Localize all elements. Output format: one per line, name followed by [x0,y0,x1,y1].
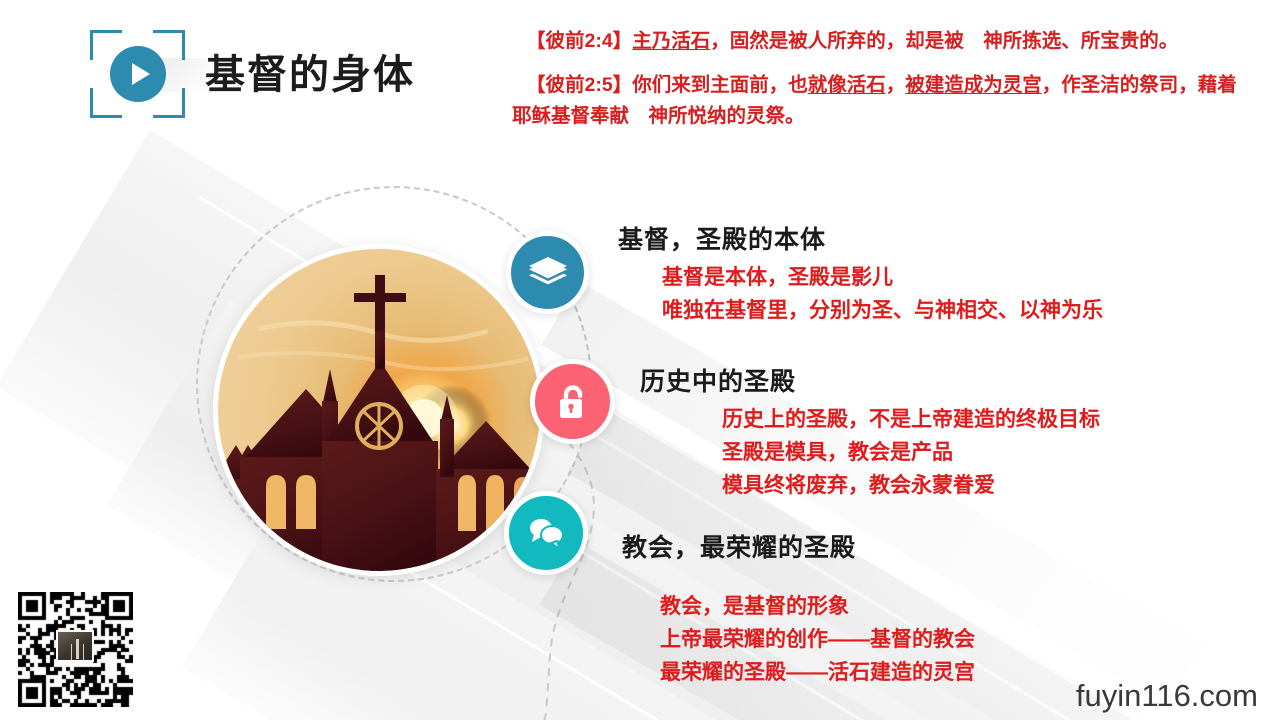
section-3-line-2: 上帝最荣耀的创作——基督的教会 [660,623,975,656]
scripture-block: 【彼前2:4】主乃活石，固然是被人所弃的，却是被 神所拣选、所宝贵的。 【彼前2… [512,26,1238,145]
section-2-line-1: 历史上的圣殿，不是上帝建造的终极目标 [722,403,1100,436]
section-2-line-2: 圣殿是模具，教会是产品 [722,436,1100,469]
section-3-line-1: 教会，是基督的形象 [660,590,975,623]
unlock-icon [555,382,591,422]
church-sunset-photo [218,249,540,571]
verse-2-underlined-1: 就像活石 [808,74,886,96]
verse-2-reference: 【彼前2:5】 [526,74,632,96]
section-block-3: 教会，最荣耀的圣殿 教会，是基督的形象 上帝最荣耀的创作——基督的教会 最荣耀的… [622,528,975,689]
section-1-lines: 基督是本体，圣殿是影儿 唯独在基督里，分别为圣、与神相交、以神为乐 [618,261,1103,327]
section-icon-1[interactable] [506,231,589,314]
verse-1-rest: ，固然是被人所弃的，却是被 神所拣选、所宝贵的。 [710,30,1178,52]
section-block-2: 历史中的圣殿 历史上的圣殿，不是上帝建造的终极目标 圣殿是模具，教会是产品 模具… [640,362,1100,502]
section-1-line-2: 唯独在基督里，分别为圣、与神相交、以神为乐 [662,294,1103,327]
qr-code[interactable] [18,592,133,707]
verse-1-underlined: 主乃活石 [632,30,710,52]
site-watermark: fuyin116.com [1076,678,1258,714]
scripture-verse-1: 【彼前2:4】主乃活石，固然是被人所弃的，却是被 神所拣选、所宝贵的。 [512,26,1238,57]
verse-2-underlined-2: 被建造成为灵宫 [905,74,1042,96]
section-2-heading: 历史中的圣殿 [640,362,1100,398]
qr-center-logo [56,630,94,662]
slide-canvas: 基督的身体 【彼前2:4】主乃活石，固然是被人所弃的，却是被 神所拣选、所宝贵的… [0,0,1280,720]
section-2-lines: 历史上的圣殿，不是上帝建造的终极目标 圣殿是模具，教会是产品 模具终将废弃，教会… [640,403,1100,502]
section-icon-3[interactable] [504,491,588,575]
verse-1-reference: 【彼前2:4】 [526,30,632,52]
verse-2-part-1: 你们来到主面前，也 [632,74,808,96]
chat-bubbles-icon [526,515,566,551]
section-3-lines: 教会，是基督的形象 上帝最荣耀的创作——基督的教会 最荣耀的圣殿——活石建造的灵… [622,590,975,689]
section-2-line-3: 模具终将废弃，教会永蒙眷爱 [722,469,1100,502]
verse-2-part-2: ， [886,74,906,96]
section-1-heading: 基督，圣殿的本体 [618,220,1103,256]
page-title: 基督的身体 [205,42,415,100]
layers-icon [528,255,568,291]
section-3-line-3: 最荣耀的圣殿——活石建造的灵宫 [660,656,975,689]
section-icon-2[interactable] [530,359,615,444]
play-button-icon[interactable] [110,46,166,102]
section-block-1: 基督，圣殿的本体 基督是本体，圣殿是影儿 唯独在基督里，分别为圣、与神相交、以神… [618,220,1103,327]
circular-photo-frame [213,244,545,576]
scripture-verse-2: 【彼前2:5】你们来到主面前，也就像活石，被建造成为灵宫，作圣洁的祭司，藉着耶稣… [512,70,1238,132]
section-1-line-1: 基督是本体，圣殿是影儿 [662,261,1103,294]
section-3-heading: 教会，最荣耀的圣殿 [622,528,975,564]
